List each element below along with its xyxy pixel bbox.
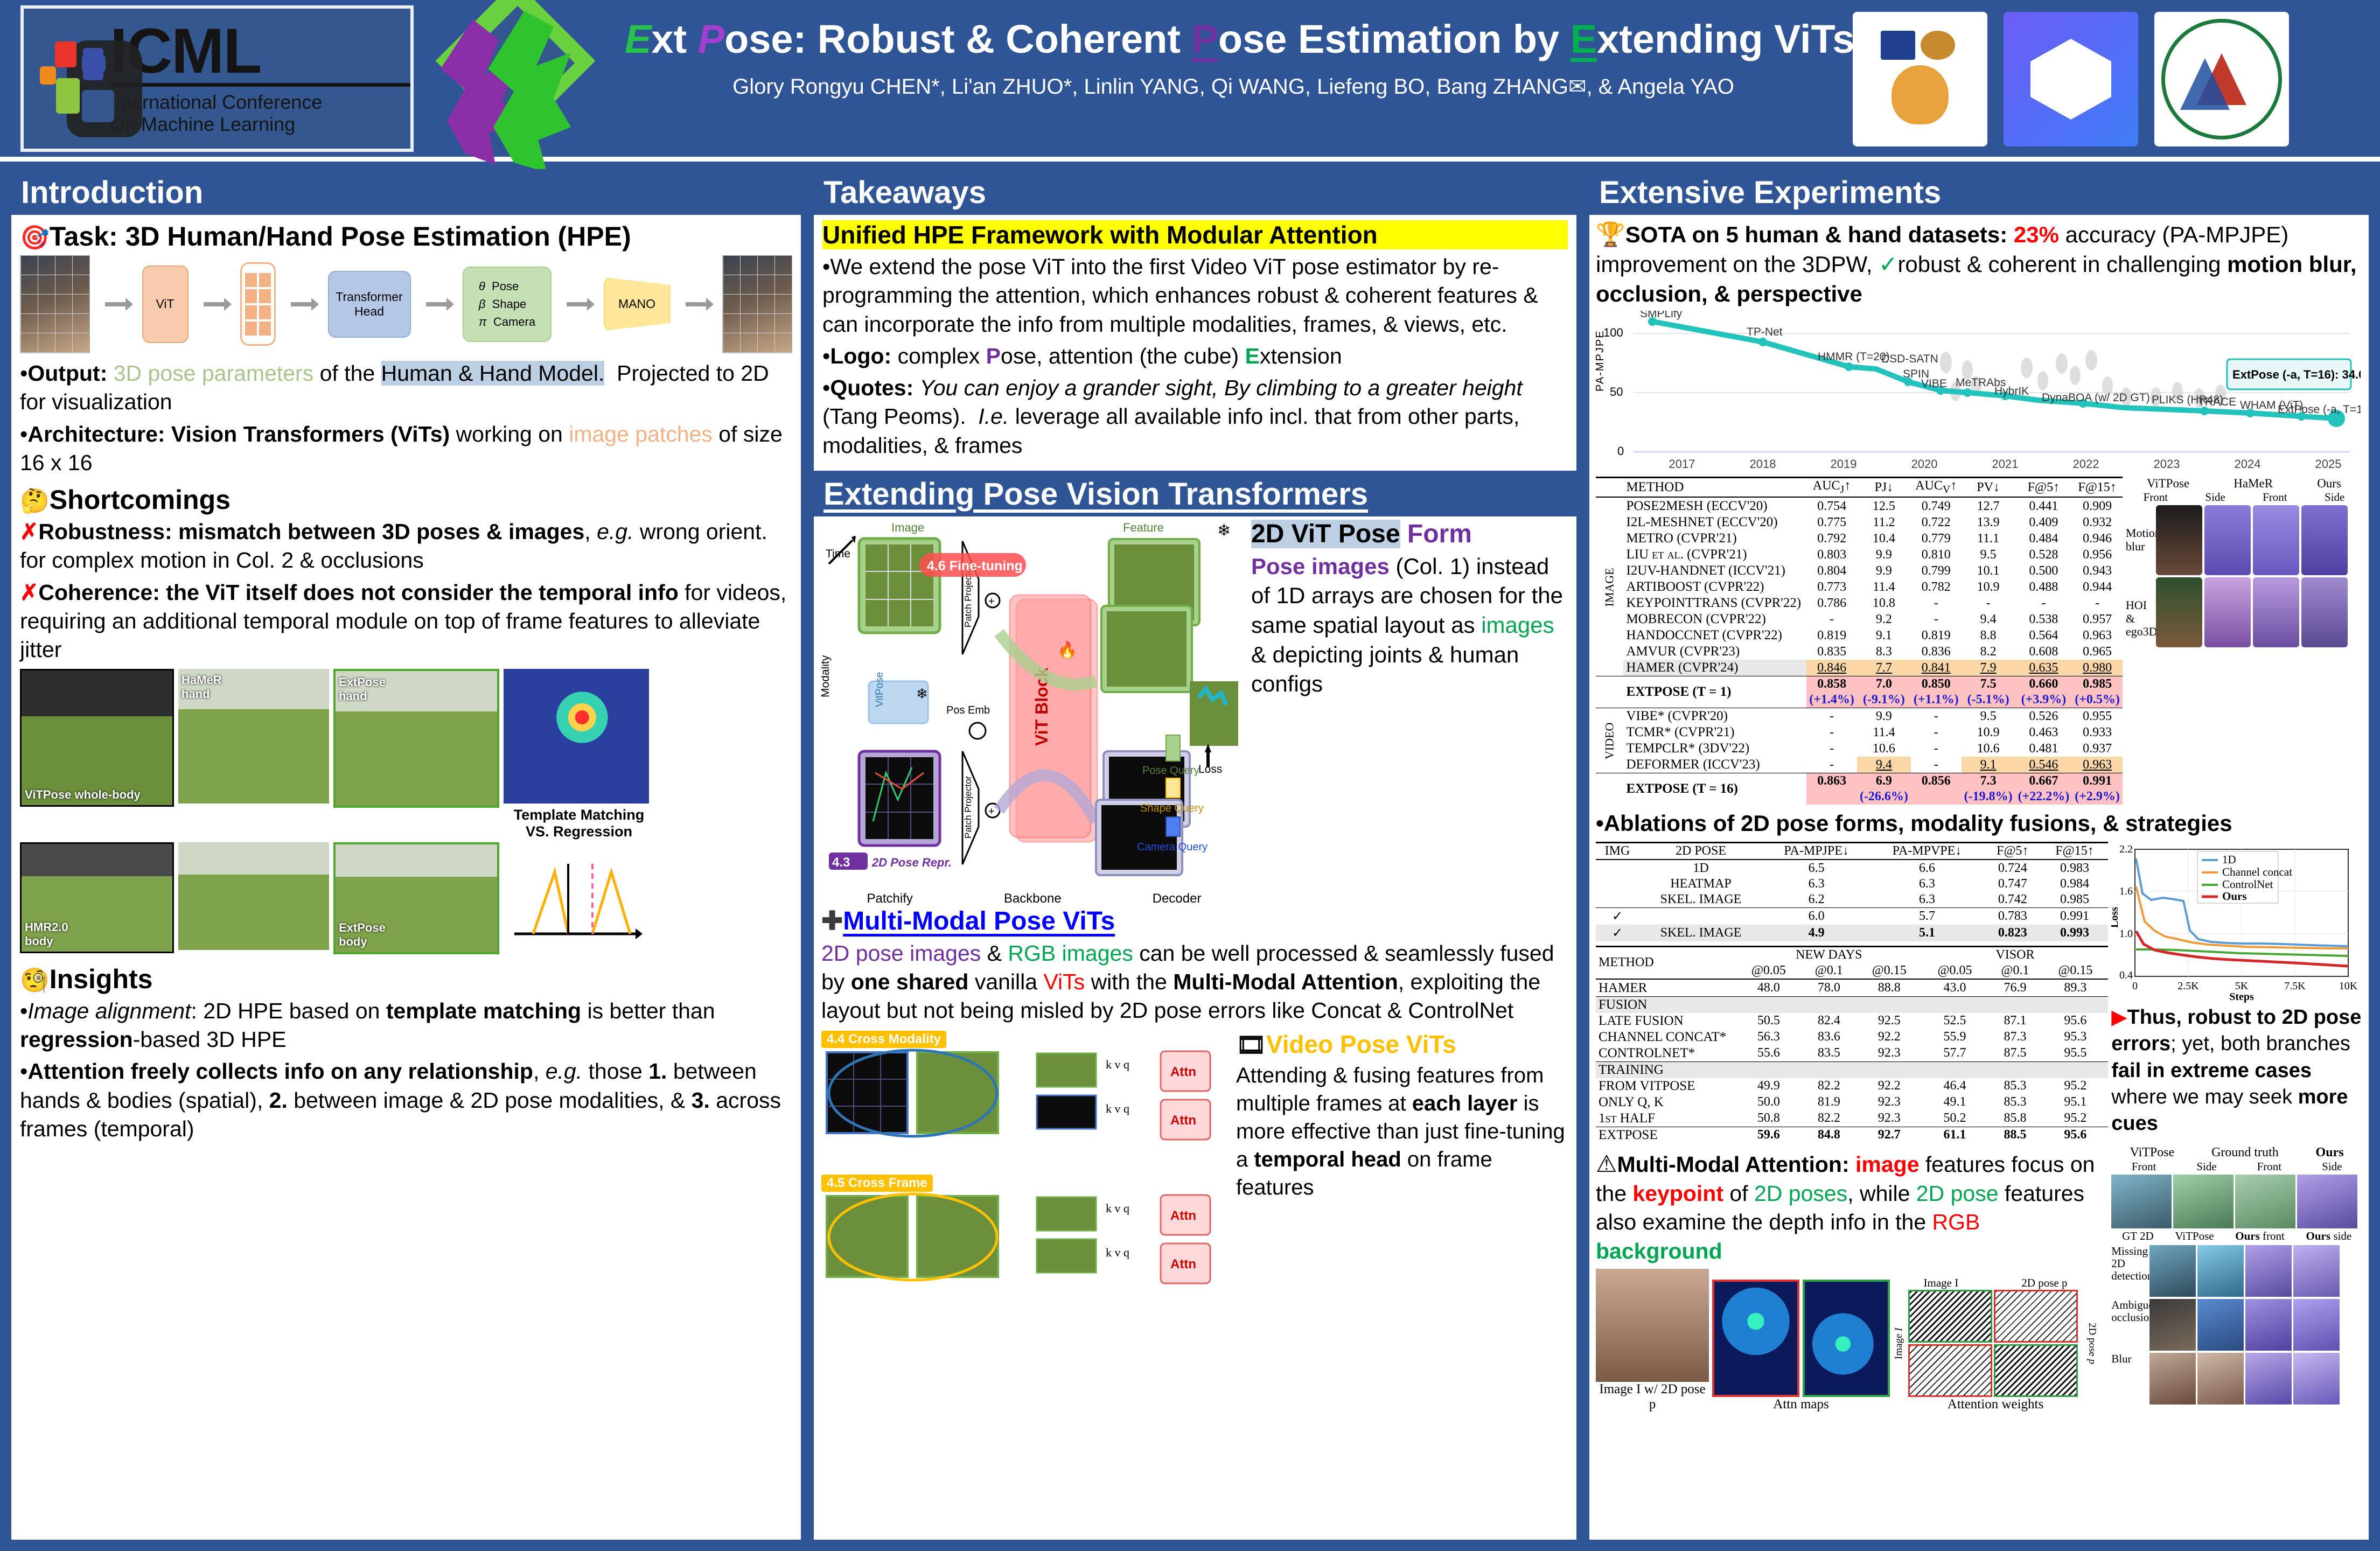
table-row: CONTROLNET*55.683.592.357.787.595.5 [1596,1045,2108,1062]
gallery-image [2204,577,2251,647]
table-row: VIDEOVIBE* (CVPR'20)-9.9-9.50.5260.955 [1596,708,2123,725]
svg-text:1.6: 1.6 [2119,885,2133,897]
attention-figure: Image I w/ 2D pose p Attn maps [1596,1269,2108,1412]
gallery-image [2301,577,2348,647]
svg-text:Attn: Attn [1170,1113,1196,1128]
failure-image [2149,1245,2196,1297]
section-header-extending: Extending Pose Vision Transformers [814,474,1576,516]
takeaways-banner: Unified HPE Framework with Modular Atten… [822,220,1568,249]
arrow-icon [567,302,588,306]
table-row: I2L-MESHNET (ECCV'20)0.77511.20.72213.90… [1596,514,2123,530]
svg-text:2020: 2020 [1911,457,1938,471]
label-decoder: Decoder [1153,891,1202,906]
row-label-hoi-ego3d: HOI & ego3D [2126,577,2154,647]
section-header-experiments: Extensive Experiments [1589,173,2369,215]
legend-ours: Ours [2222,890,2247,903]
svg-text:Pos Emb: Pos Emb [946,704,990,716]
table-row: LIU et al. (CVPR'21)0.8039.90.8109.50.52… [1596,547,2123,563]
table-row: SKEL. IMAGE6.26.30.7420.985 [1596,892,2108,908]
attn-weight-cell [1908,1344,1992,1397]
svg-text:Pose Query: Pose Query [1142,765,1199,777]
video-title: 🎞Video Pose ViTs [1236,1031,1569,1058]
svg-text:TRACE: TRACE [2198,396,2236,408]
failure-label-occlusion: Ambiguous occlusion [2111,1299,2148,1351]
huggingface-logo [2004,12,2138,146]
table-ablation-2dpose: IMG2D POSE PA-MPJPE↓PA-MPVPE↓F@5↑F@15↑ 1… [1596,842,2108,941]
shortcomings-title: 🤔Shortcomings [20,486,792,514]
table-row: HAMER (CVPR'24)0.8467.70.8417.90.6350.98… [1596,660,2123,676]
author-list: Glory Rongyu CHEN*, Li'an ZHUO*, Linlin … [625,74,1842,99]
table-row: HAMER48.078.088.843.076.989.3 [1596,980,2108,997]
attn-caption-maps: Attn maps [1712,1397,1890,1412]
svg-text:50: 50 [1610,385,1623,399]
failure-image [2149,1299,2196,1351]
svg-text:❄: ❄ [916,686,928,702]
table-row: ONLY Q, K50.081.992.349.185.395.1 [1596,1094,2108,1110]
output-bullet: •Output: 3D pose parameters of the Human… [20,359,792,417]
table-row: IMAGEPOSE2MESH (ECCV'20)0.75412.50.74912… [1596,498,2123,514]
svg-text:7.5K: 7.5K [2285,980,2306,992]
svg-text:🔥: 🔥 [1057,640,1077,659]
svg-text:Camera Query: Camera Query [1137,841,1208,853]
icml-subtitle-1: International Conference [110,91,410,113]
attn-input-image [1596,1269,1709,1382]
svg-text:2.2: 2.2 [2119,843,2133,855]
svg-text:Loss: Loss [1198,763,1222,775]
svg-text:2D Pose Repr.: 2D Pose Repr. [871,856,952,869]
qualitative-photo-strip-2: HMR2.0body ExtPosebody [20,842,792,954]
qualitative-photo-strip: ViTPose whole-body HaMeRhand ExtPosehand… [20,669,792,840]
svg-text:5K: 5K [2235,980,2249,992]
label-backbone: Backbone [1004,891,1062,906]
sota-progress-chart: PA-MPJPE 0 50 100 201720182019 202020212… [1596,311,2362,472]
output-hand-image [722,255,792,353]
insights-title: 🧐Insights [20,965,792,994]
form-title: 2D ViT Pose Form [1251,520,1569,549]
form-body: Pose images (Col. 1) instead of 1D array… [1251,552,1569,699]
takeaway-bullet-3: •Quotes: You can enjoy a grander sight, … [822,374,1568,460]
svg-text:2023: 2023 [2154,457,2180,471]
table-row: CHANNEL CONCAT*56.383.692.255.987.395.3 [1596,1029,2108,1045]
insight-image-alignment: •Image alignment: 2D HPE based on templa… [20,997,792,1054]
row-label-motion-blur: Motion blur [2126,505,2154,575]
legend-1d: 1D [2222,853,2236,866]
svg-text:HMMR (T=20): HMMR (T=20) [1818,351,1890,363]
pipeline-vit-box: ViT [142,266,189,343]
table-row: I2UV-HANDNET (ICCV'21)0.8049.90.79910.10… [1596,563,2123,579]
attn-axis-pose-p: 2D pose p [2085,1290,2098,1397]
gallery-column-headers: ViTPoseHaMeROurs [2126,477,2362,491]
shortcoming-coherence: ✗Coherence: the ViT itself does not cons… [20,578,792,665]
svg-text:Patch Projector: Patch Projector [963,776,973,839]
gallery-label-vitpose: ViTPose [2147,477,2189,491]
table-row-ours: EXTPOSE (T = 1)0.8587.00.8507.50.6600.98… [1596,676,2123,693]
svg-text:Modality: Modality [821,655,832,697]
svg-text:10K: 10K [2339,980,2358,992]
pipeline-tokens [240,262,276,346]
svg-text:100: 100 [1603,326,1623,339]
photo-vitpose-wholebody: ViTPose whole-body [20,669,174,807]
svg-text:0: 0 [1617,444,1624,458]
table-ablation-rows: 1D6.56.60.7240.983HEATMAP6.36.30.7470.98… [1596,861,2108,941]
table-row: ✓6.05.70.7830.991 [1596,907,2108,925]
gallery-image [2156,577,2202,647]
thus-statement: ▶Thus, robust to 2D pose errors; yet, bo… [2111,1004,2362,1137]
table-row: AMVUR (CVPR'23)0.8358.30.8368.20.6080.96… [1596,644,2123,660]
icml-robot-icon [36,27,100,130]
svg-text:Image: Image [891,521,924,534]
gallery-label-hamer: HaMeR [2234,477,2273,491]
svg-text:Steps: Steps [2229,991,2254,1003]
attn-caption-input: Image I w/ 2D pose p [1596,1382,1709,1412]
table-row: ARTIBOOST (CVPR'22)0.77311.40.78210.90.4… [1596,579,2123,595]
table-row: METRO (CVPR'21)0.79210.40.77911.10.4840.… [1596,530,2123,547]
attn-label-pose-p: 2D pose p [2021,1276,2067,1290]
gallery-image [2253,577,2299,647]
gallery-image [2204,505,2251,575]
pipeline-mano-box: MANO [604,277,671,331]
svg-text:4.3: 4.3 [832,855,850,870]
pipeline-diagram: ViT TransformerHead θ Poseβ Shapeπ Camer… [20,254,792,354]
cue-gallery-views: FrontSideFrontSide [2111,1160,2362,1173]
gallery-image [2156,505,2202,575]
svg-text:k v q: k v q [1106,1102,1129,1115]
section-header-takeaways: Takeaways [814,173,1576,215]
gallery-label-ours: Ours [2317,477,2341,491]
svg-text:DynaBOA (w/ 2D GT): DynaBOA (w/ 2D GT) [2042,392,2150,404]
chart-annotation: ExtPose (-a, T=16): 34.000 [2232,368,2361,381]
svg-text:2017: 2017 [1669,457,1695,471]
failure-image [2293,1299,2340,1351]
svg-text:VIBE: VIBE [1921,378,1947,390]
pipeline-params: θ Poseβ Shapeπ Camera [463,267,552,342]
face-with-monocle-icon: 🧐 [20,967,50,994]
svg-text:Attn: Attn [1170,1208,1196,1223]
legend-controlnet: ControlNet [2222,878,2273,891]
table-row: HANDOCCNET (CVPR'22)0.8199.10.8198.80.56… [1596,627,2123,644]
arrow-icon [426,302,448,306]
failure-image [2245,1245,2292,1297]
svg-text:2021: 2021 [1992,457,2019,471]
column-middle: Takeaways Unified HPE Framework with Mod… [810,169,1580,1543]
table-main-results: METHOD AUCJ↑PJ↓AUCV↑PV↓F@5↑F@15↑ IMAGEPO… [1596,477,2123,805]
failure-label-blur: Blur [2111,1353,2148,1405]
svg-text:SMPLify: SMPLify [1640,311,1683,320]
table-row-ours: EXTPOSE (T = 16)0.8636.90.8567.30.6670.9… [1596,773,2123,790]
icml-subtitle-2: On Machine Learning [110,113,410,135]
failure-image [2197,1299,2244,1351]
table-fusion-rows: HAMER48.078.088.843.076.989.3FUSIONLATE … [1596,980,2108,1143]
table-main-ours-image: EXTPOSE (T = 1)0.8587.00.8507.50.6600.98… [1596,676,2123,708]
svg-text:VitPose: VitPose [874,672,885,707]
cue-image-gt-side [2235,1175,2295,1228]
svg-text:4.6 Fine-tuning: 4.6 Fine-tuning [927,558,1023,574]
gt2d-labels: GT 2DViTPoseOurs frontOurs side [2111,1229,2362,1243]
failure-image [2293,1245,2340,1297]
failure-image [2149,1353,2196,1405]
trophy-icon: 🏆 [1596,221,1625,248]
poster-root: ICML International Conference On Machine… [0,0,2380,1551]
svg-text:2024: 2024 [2235,457,2261,471]
video-body: Attending & fusing features from multipl… [1236,1061,1569,1201]
takeaway-bullet-2: •Logo: complex Pose, attention (the cube… [822,342,1568,371]
svg-text:ExtPose (-a, T=16): ExtPose (-a, T=16) [2278,403,2361,416]
svg-text:2025: 2025 [2315,457,2342,471]
cue-image-ours [2297,1175,2357,1228]
pipeline-transformer-head: TransformerHead [328,271,411,338]
table-row: KEYPOINTTRANS (CVPR'22)0.78610.8---- [1596,595,2123,611]
failure-image [2197,1353,2244,1405]
stage-labels: Patchify Backbone Decoder [821,891,1247,906]
page-title: Ext Pose: Robust & Coherent Pose Estimat… [625,18,1842,60]
target-icon: 🎯 [20,225,50,251]
svg-text:+: + [988,806,995,818]
failure-image [2245,1299,2292,1351]
extpose-logo-icon [431,0,609,172]
multimodal-body: 2D pose images & RGB images can be well … [821,939,1569,1025]
svg-text:Attn: Attn [1170,1257,1196,1271]
attn-map-1 [1712,1280,1799,1397]
table-row: FUSION [1596,996,2108,1013]
svg-text:k v q: k v q [1106,1058,1129,1071]
table-row: DEFORMER (ICCV'23)-9.4-9.10.5460.963 [1596,757,2123,773]
section-header-introduction: Introduction [11,173,801,215]
table-main-ours-video: EXTPOSE (T = 16)0.8636.90.8567.30.6670.9… [1596,773,2123,805]
architecture-bullet: •Architecture: Vision Transformers (ViTs… [20,420,792,478]
arrow-icon [291,302,312,306]
photo-hmr2-body: HMR2.0body [20,842,174,953]
gallery-image [2301,505,2348,575]
svg-text:k v q: k v q [1106,1201,1129,1215]
svg-text:2019: 2019 [1831,457,1857,471]
svg-text:2022: 2022 [2073,457,2099,471]
svg-text:Feature: Feature [1123,521,1164,534]
attn-caption-weights: Attention weights [1893,1397,2098,1412]
shortcoming-robustness: ✗Robustness: mismatch between 3D poses &… [20,518,792,575]
architecture-diagram: Image Feature Time Modality Vi [821,520,1247,891]
failure-image [2293,1353,2340,1405]
table-row: 1st HALF50.882.292.350.285.895.2 [1596,1110,2108,1127]
table-row: HEATMAP6.36.30.7470.984 [1596,876,2108,892]
photo-mid-body [178,842,329,950]
svg-text:TP-Net: TP-Net [1747,326,1783,338]
sota-statement: 🏆SOTA on 5 human & hand datasets: 23% ac… [1596,219,2362,309]
svg-text:Attn: Attn [1170,1065,1196,1079]
attention-heatmap-image [504,669,649,804]
svg-text:1.0: 1.0 [2119,928,2133,940]
distribution-sketch [504,842,649,945]
table-row: 1D6.56.60.7240.983 [1596,861,2108,876]
thinking-face-icon: 🤔 [20,488,50,514]
attn-weight-cell [1994,1344,2078,1397]
label-patchify: Patchify [867,891,913,906]
warning-icon: ⚠ [1596,1151,1617,1177]
cue-image-gt-front [2173,1175,2234,1228]
table-row: TRAINING [1596,1061,2108,1078]
svg-text:+: + [988,596,995,607]
svg-text:0.4: 0.4 [2119,969,2133,981]
takeaway-bullet-1: •We extend the pose ViT into the first V… [822,253,1568,339]
failure-label-missing: Missing 2D detection [2111,1245,2148,1297]
divider [814,471,1576,474]
table-main-image-rows: IMAGEPOSE2MESH (ECCV'20)0.75412.50.74912… [1596,498,2123,676]
attn-weight-cell [1994,1290,2078,1343]
label-cross-frame: 4.5 Cross Frame [821,1175,933,1192]
svg-text:2.5K: 2.5K [2178,980,2200,992]
photo-extpose-body: ExtPosebody [333,842,499,954]
attn-map-2 [1803,1280,1890,1397]
loss-curve-chart: Loss 2.21.61.00.4 02.5K5 [2111,842,2362,1003]
failure-image [2197,1245,2244,1297]
photo-hamer-hand: HaMeRhand [178,669,329,804]
multimodal-title: ✚Multi-Modal Pose ViTs [821,907,1569,936]
table-row: TCMR* (CVPR'21)-11.4-10.90.4630.933 [1596,724,2123,740]
arrow-icon [686,302,707,306]
legend-channel-concat: Channel concat [2222,865,2292,878]
photo-extpose-hand: ExtPosehand [333,669,499,808]
task-title: 🎯Task: 3D Human/Hand Pose Estimation (HP… [20,222,792,251]
svg-text:HybrIK: HybrIK [1994,385,2029,397]
svg-text:❄: ❄ [1217,522,1231,540]
column-introduction: Introduction 🎯Task: 3D Human/Hand Pose E… [8,169,805,1543]
table-row: TEMPCLR* (3DV'22)-10.6-10.60.4810.937 [1596,740,2123,757]
table-row: EXTPOSE59.684.892.761.188.595.6 [1596,1127,2108,1143]
cue-image-vitpose [2111,1175,2172,1228]
table-main-video-rows: VIDEOVIBE* (CVPR'20)-9.9-9.50.5260.955TC… [1596,708,2123,773]
svg-text:2018: 2018 [1750,457,1776,471]
cue-gallery-headers: ViTPoseGround truthOurs [2111,1145,2362,1160]
ablation-heading: •Ablations of 2D pose forms, modality fu… [1596,809,2362,839]
table-fusion-training: METHOD NEW DAYSVISOR @0.05@0.1@0.15@0.05… [1596,946,2108,1143]
title-block: Ext Pose: Robust & Coherent Pose Estimat… [625,18,1842,99]
nus-logo [1853,12,1987,146]
label-cross-modality: 4.4 Cross Modality [821,1031,946,1048]
attn-weight-cell [1908,1290,1992,1343]
arrow-icon [105,302,127,306]
svg-text:Shape Query: Shape Query [1140,802,1204,814]
poster-header: ICML International Conference On Machine… [0,0,2380,162]
icml-name: ICML [110,22,410,81]
table-row: FROM VITPOSE49.982.292.246.485.395.2 [1596,1078,2108,1094]
table-row: LATE FUSION50.582.492.552.587.195.6 [1596,1013,2108,1029]
svg-text:DSD-SATN: DSD-SATN [1881,353,1938,365]
gallery-image [2253,505,2299,575]
attn-label-image-i: Image I [1924,1276,1959,1290]
column-experiments: Extensive Experiments 🏆SOTA on 5 human &… [1586,169,2372,1543]
svg-text:Loss: Loss [2111,907,2120,928]
gallery-view-headers: FrontSideFrontSide [2126,491,2362,504]
svg-text:0: 0 [2132,980,2138,992]
svg-text:k v q: k v q [1106,1246,1129,1259]
table-row: MOBRECON (CVPR'22)-9.2-9.40.5380.957 [1596,611,2123,627]
template-matching-caption: Template MatchingVS. Regression [504,807,654,840]
table-row: ✓SKEL. IMAGE4.95.10.8230.993 [1596,925,2108,941]
attn-axis-image-i: Image I [1893,1290,1906,1397]
icml-logo: ICML International Conference On Machine… [20,5,414,152]
zju-logo [2154,12,2289,146]
film-strip-icon: 🎞 [1236,1032,1266,1058]
failure-image [2245,1353,2292,1405]
insight-attention: •Attention freely collects info on any r… [20,1057,792,1143]
mma-statement: ⚠Multi-Modal Attention: image features f… [1596,1149,2108,1266]
input-hand-image [20,255,90,353]
arrow-icon [204,302,225,306]
cross-attention-figure: 4.4 Cross Modality k v q k v q Attn A [821,1031,1231,1310]
